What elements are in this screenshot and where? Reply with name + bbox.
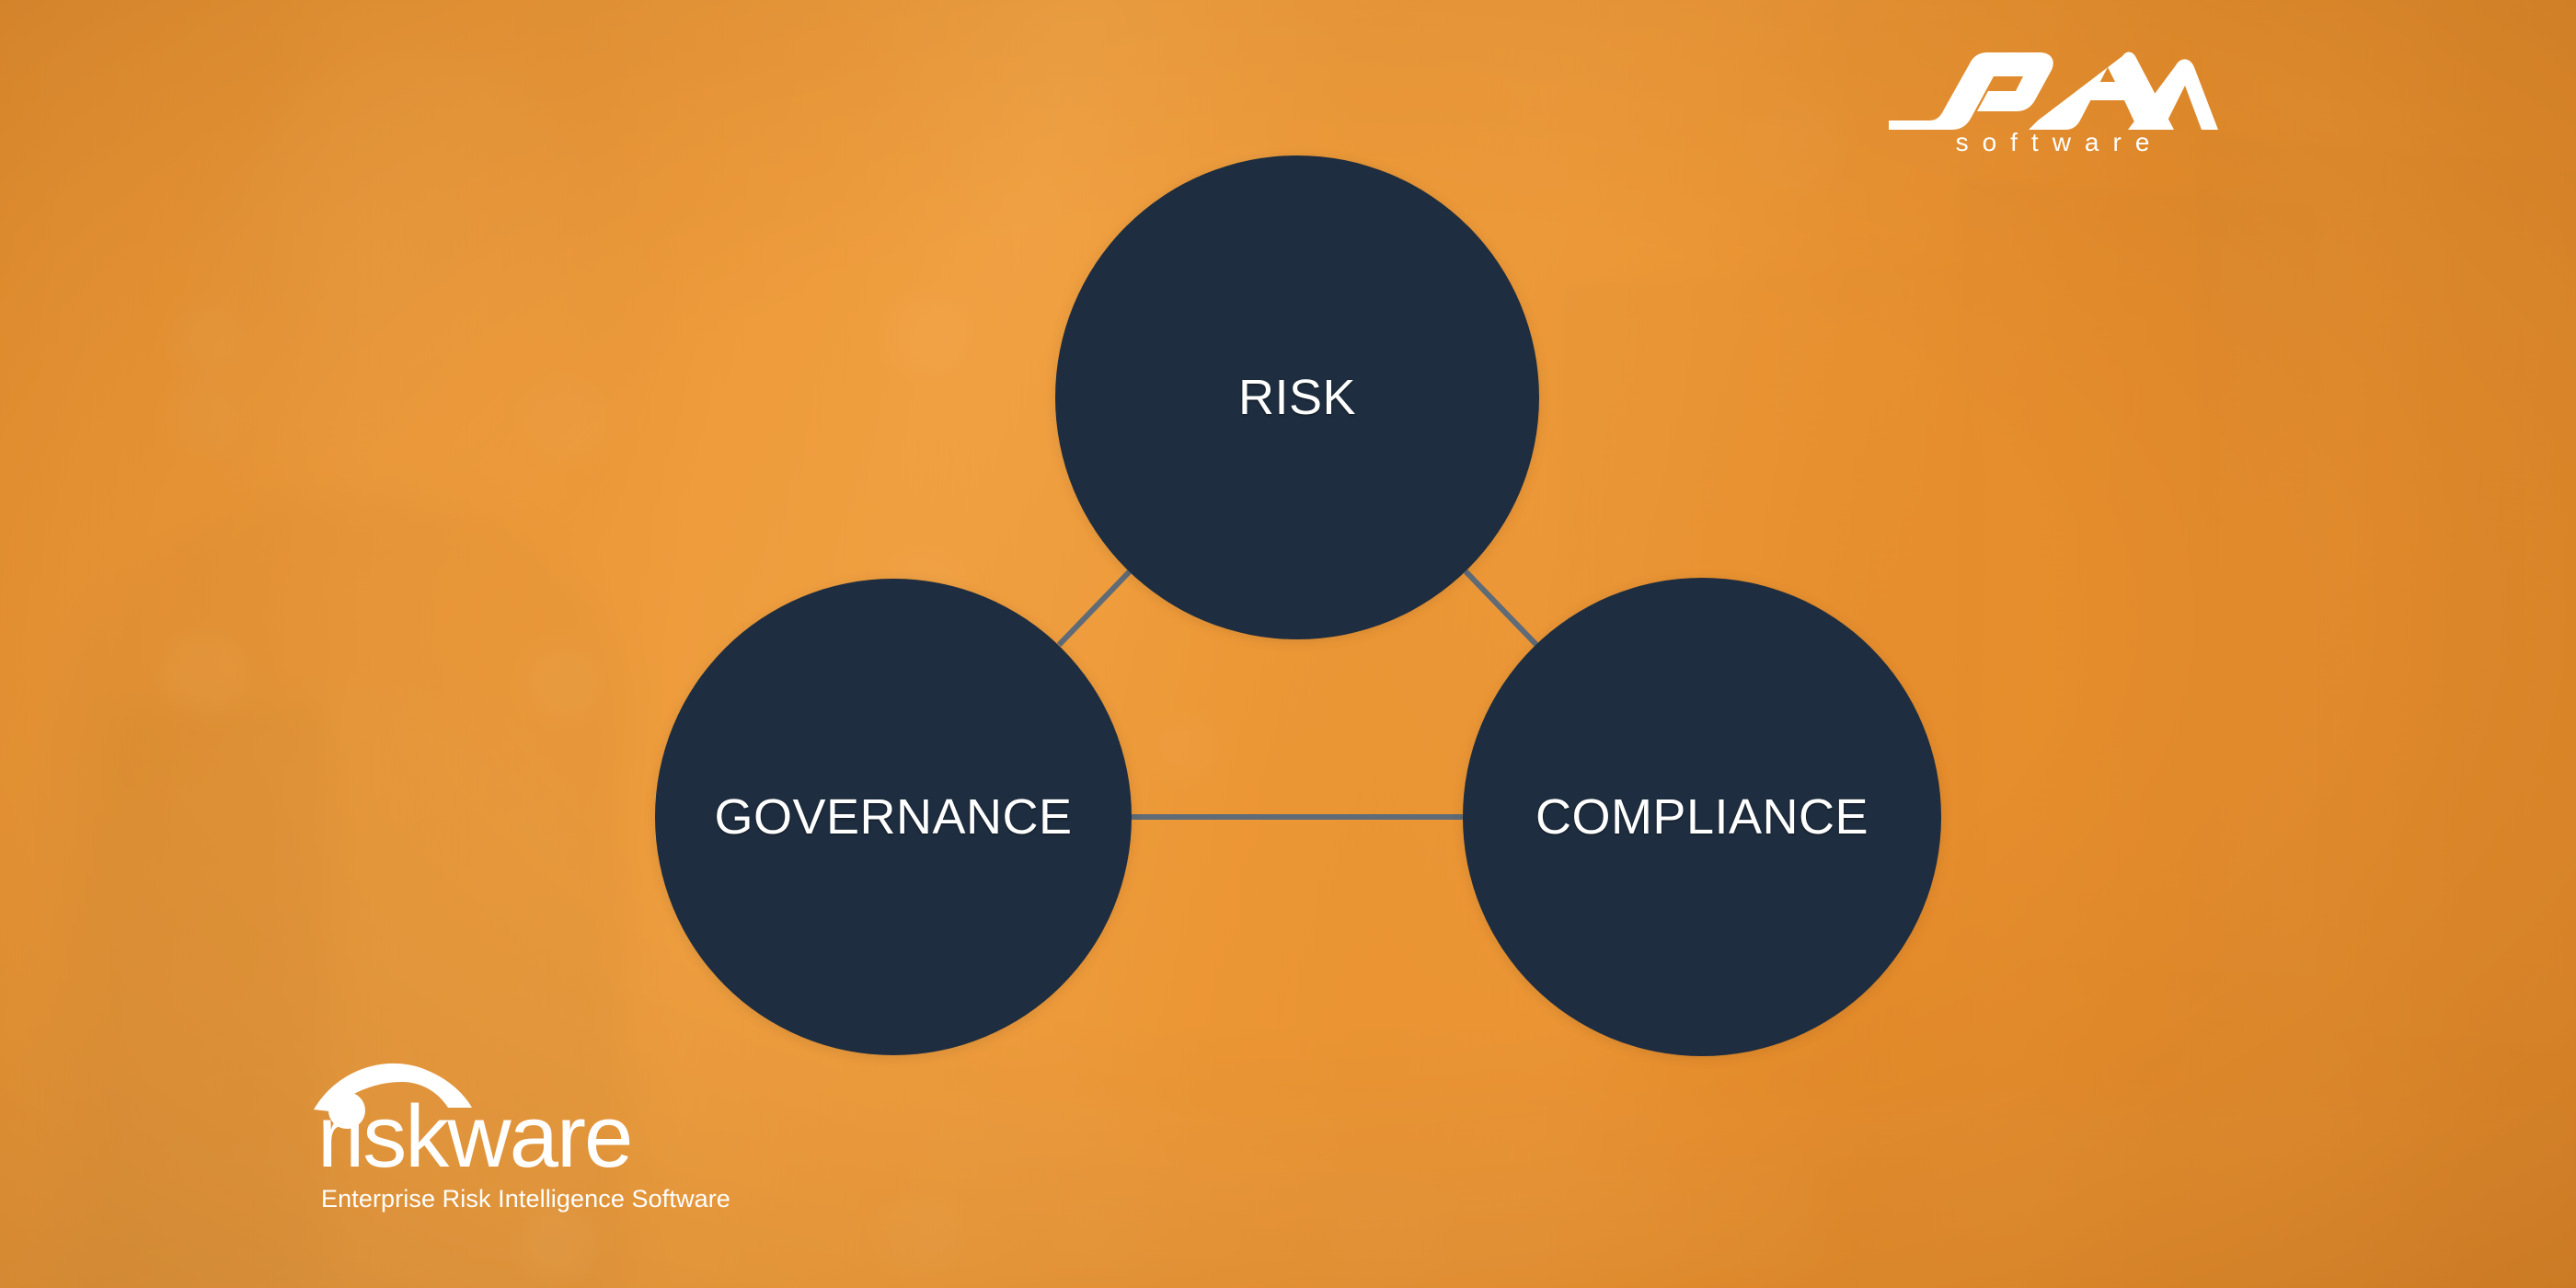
node-compliance[interactable]: COMPLIANCE <box>1463 578 1941 1056</box>
slide-canvas: RISK GOVERNANCE COMPLIANCE software risk… <box>0 0 2576 1288</box>
pan-software-logo[interactable]: software <box>1881 51 2222 189</box>
connector-risk-governance <box>1056 569 1131 647</box>
pan-software-wordmark: software <box>1894 128 2211 157</box>
node-governance-label: GOVERNANCE <box>714 788 1072 845</box>
node-risk-label: RISK <box>1238 369 1356 426</box>
riskware-tagline: Enterprise Risk Intelligence Software <box>321 1185 730 1213</box>
node-compliance-label: COMPLIANCE <box>1535 788 1869 845</box>
node-risk[interactable]: RISK <box>1055 155 1539 639</box>
node-governance[interactable]: GOVERNANCE <box>655 579 1132 1055</box>
pan-logo-icon <box>1881 51 2222 135</box>
riskware-logo[interactable]: riskware Enterprise Risk Intelligence So… <box>317 1067 713 1219</box>
connector-risk-compliance <box>1463 569 1537 647</box>
riskware-wordmark: riskware <box>317 1093 631 1181</box>
connector-governance-compliance <box>1132 814 1463 820</box>
